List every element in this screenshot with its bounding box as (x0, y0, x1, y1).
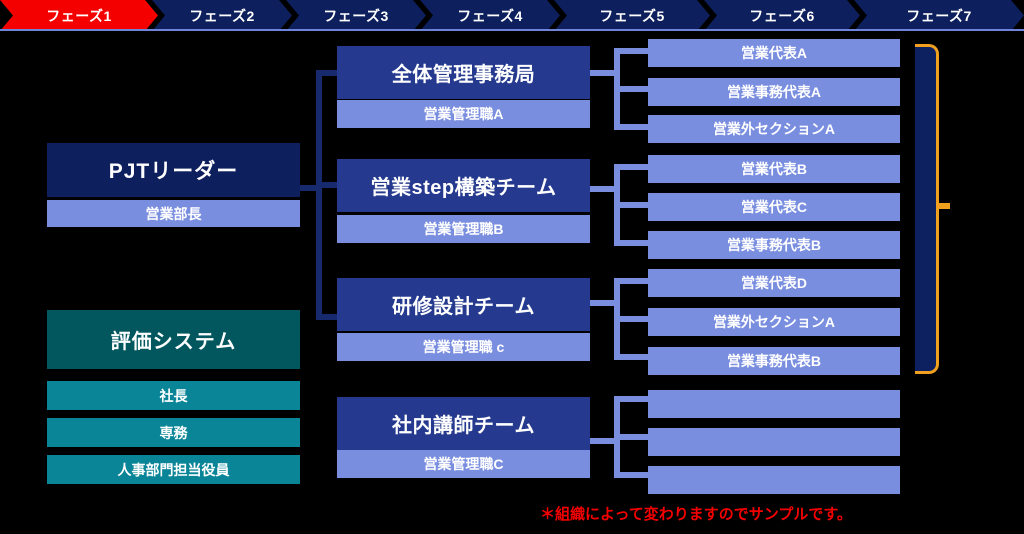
team-manager-3: 営業管理職C (337, 450, 590, 478)
team-manager-label: 営業管理職C (423, 454, 503, 474)
connector-group-1-b2 (614, 240, 648, 246)
member-label: 営業外セクションA (713, 119, 835, 139)
phase-tab-7[interactable]: フェーズ7 (854, 0, 1024, 31)
member-box-2-0: 営業代表D (648, 269, 900, 297)
pjt-leader-card[interactable]: PJTリーダー (47, 143, 300, 197)
phase-tab-label: フェーズ5 (599, 6, 665, 26)
member-box-2-1: 営業外セクションA (648, 308, 900, 336)
connector-group-0-b0 (614, 48, 648, 54)
phase-tab-4[interactable]: フェーズ4 (420, 0, 560, 31)
connector-group-2-b1 (614, 316, 648, 322)
team-card-1[interactable]: 営業step構築チーム (337, 159, 590, 212)
evaluation-system-card[interactable]: 評価システム (47, 310, 300, 369)
connector-group-2-b2 (614, 354, 648, 360)
member-label: 営業代表B (741, 159, 807, 179)
phase-tab-label: フェーズ6 (749, 6, 815, 26)
group-bracket (915, 44, 939, 374)
team-card-2[interactable]: 研修設計チーム (337, 278, 590, 331)
pjt-leader-role: 営業部長 (47, 200, 300, 227)
pjt-leader-role-label: 営業部長 (146, 204, 202, 224)
member-box-3-0 (648, 390, 900, 418)
phase-bar: フェーズ1 フェーズ2 フェーズ3 フェーズ4 フェーズ5 フェーズ6 フェーズ… (0, 0, 1024, 31)
phase-tab-label: フェーズ4 (457, 6, 523, 26)
team-manager-0: 営業管理職A (337, 100, 590, 128)
connector-group-1-stub (590, 186, 614, 192)
evaluation-member-label: 専務 (160, 423, 188, 443)
sample-note: ＊組織によって変わりますのでサンプルです。 (540, 501, 960, 525)
phase-tab-3[interactable]: フェーズ3 (286, 0, 426, 31)
phase-tab-label: フェーズ1 (46, 6, 112, 26)
evaluation-member-label: 人事部門担当役員 (118, 460, 230, 480)
team-name: 社内講師チーム (392, 409, 535, 438)
member-label: 営業代表A (741, 43, 807, 63)
pjt-leader-title: PJTリーダー (109, 155, 239, 185)
phase-tab-label: フェーズ2 (189, 6, 255, 26)
member-label: 営業代表C (741, 197, 807, 217)
team-manager-1: 営業管理職B (337, 215, 590, 243)
member-box-3-2 (648, 466, 900, 494)
evaluation-member-1: 専務 (47, 418, 300, 447)
member-box-1-0: 営業代表B (648, 155, 900, 183)
phase-bar-shadow (0, 31, 1024, 34)
phase-tab-5[interactable]: フェーズ5 (554, 0, 710, 31)
member-box-0-0: 営業代表A (648, 39, 900, 67)
phase-tab-2[interactable]: フェーズ2 (152, 0, 292, 31)
evaluation-member-0: 社長 (47, 381, 300, 410)
team-manager-2: 営業管理職 c (337, 333, 590, 361)
member-label: 営業外セクションA (713, 312, 835, 332)
evaluation-member-label: 社長 (160, 386, 188, 406)
evaluation-member-2: 人事部門担当役員 (47, 455, 300, 484)
connector-group-3-stub (590, 438, 614, 444)
member-box-1-1: 営業代表C (648, 193, 900, 221)
connector-group-1-b1 (614, 202, 648, 208)
connector-group-3-b1 (614, 434, 648, 440)
team-name: 研修設計チーム (392, 290, 535, 319)
team-manager-label: 営業管理職A (423, 104, 503, 124)
team-manager-label: 営業管理職 c (423, 337, 505, 357)
member-label: 営業事務代表A (727, 82, 821, 102)
connector-group-1-b0 (614, 164, 648, 170)
connector-group-2-stub (590, 300, 614, 306)
phase-tab-1[interactable]: フェーズ1 (0, 0, 158, 31)
phase-tab-label: フェーズ7 (906, 6, 972, 26)
member-label: 営業事務代表B (727, 351, 821, 371)
team-name: 全体管理事務局 (392, 58, 536, 87)
member-box-0-2: 営業外セクションA (648, 115, 900, 143)
group-bracket-tab (936, 203, 950, 209)
connector-leader-spine (316, 70, 322, 320)
member-box-3-1 (648, 428, 900, 456)
connector-group-3-b0 (614, 396, 648, 402)
team-name: 営業step構築チーム (370, 171, 556, 200)
connector-group-3-b2 (614, 472, 648, 478)
team-card-3[interactable]: 社内講師チーム (337, 397, 590, 450)
connector-group-0-b1 (614, 86, 648, 92)
member-box-1-2: 営業事務代表B (648, 231, 900, 259)
team-manager-label: 営業管理職B (423, 219, 503, 239)
member-label: 営業代表D (741, 273, 807, 293)
connector-group-0-b2 (614, 124, 648, 130)
sample-note-text: ＊組織によって変わりますのでサンプルです。 (540, 503, 852, 524)
connector-group-0-stub (590, 70, 614, 76)
connector-group-2-b0 (614, 278, 648, 284)
member-box-0-1: 営業事務代表A (648, 78, 900, 106)
member-label: 営業事務代表B (727, 235, 821, 255)
phase-tab-6[interactable]: フェーズ6 (704, 0, 860, 31)
phase-tab-label: フェーズ3 (323, 6, 389, 26)
team-card-0[interactable]: 全体管理事務局 (337, 46, 590, 99)
member-box-2-2: 営業事務代表B (648, 347, 900, 375)
evaluation-system-title: 評価システム (111, 325, 236, 354)
